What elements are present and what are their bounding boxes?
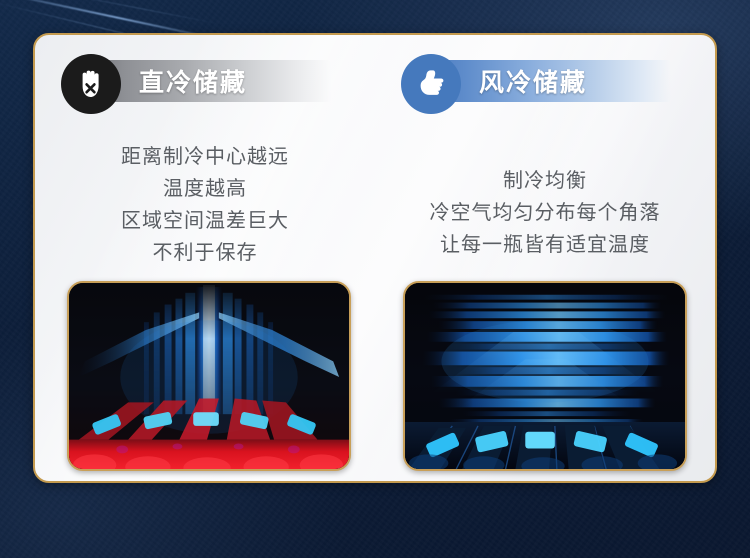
panel-image-direct-cooling: [67, 281, 351, 471]
panel-header-direct-cooling: 直冷储藏: [35, 35, 375, 117]
copy-line: 冷空气均匀分布每个角落: [375, 197, 715, 229]
copy-line: 不利于保存: [35, 237, 375, 269]
panel-copy-direct-cooling: 距离制冷中心越远 温度越高 区域空间温差巨大 不利于保存: [35, 141, 375, 269]
panel-copy-air-cooling: 制冷均衡 冷空气均匀分布每个角落 让每一瓶皆有适宜温度: [375, 165, 715, 261]
copy-line: 区域空间温差巨大: [35, 205, 375, 237]
copy-line: 让每一瓶皆有适宜温度: [375, 229, 715, 261]
copy-line: 温度越高: [35, 173, 375, 205]
panel-title-direct-cooling: 直冷储藏: [139, 60, 247, 102]
thumbs-up-icon: [401, 54, 461, 114]
page-background: 直冷储藏 距离制冷中心越远 温度越高 区域空间温差巨大 不利于保存: [0, 0, 750, 558]
panel-direct-cooling: 直冷储藏 距离制冷中心越远 温度越高 区域空间温差巨大 不利于保存: [35, 35, 375, 481]
panel-title-air-cooling: 风冷储藏: [479, 60, 587, 102]
copy-line: 距离制冷中心越远: [35, 141, 375, 173]
comparison-card: 直冷储藏 距离制冷中心越远 温度越高 区域空间温差巨大 不利于保存: [33, 33, 717, 483]
comparison-columns: 直冷储藏 距离制冷中心越远 温度越高 区域空间温差巨大 不利于保存: [35, 35, 715, 481]
stop-hand-icon: [61, 54, 121, 114]
panel-air-cooling: 风冷储藏 制冷均衡 冷空气均匀分布每个角落 让每一瓶皆有适宜温度: [375, 35, 715, 481]
panel-image-air-cooling: [403, 281, 687, 471]
copy-line: 制冷均衡: [375, 165, 715, 197]
panel-header-air-cooling: 风冷储藏: [375, 35, 715, 117]
